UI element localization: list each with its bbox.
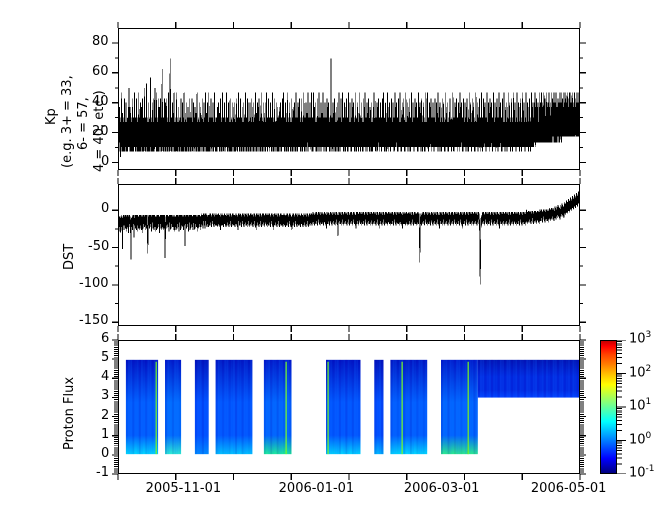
dst-ytick-label-1: -50 xyxy=(88,239,109,254)
proton-flux-ytick-label-7: 6 xyxy=(101,331,109,346)
xtick-label-3: 2006-05-01 xyxy=(531,481,607,496)
proton-flux-ytick-label-5: 4 xyxy=(101,369,109,384)
xtick-label-0: 2005-11-01 xyxy=(146,481,222,496)
colorbar-tick-label-0: 10-1 xyxy=(629,464,655,480)
proton-flux-ytick-label-1: 0 xyxy=(101,446,109,461)
dst-ytick-label-3: -150 xyxy=(79,313,109,328)
colorbar-tick-label-4: 103 xyxy=(629,330,651,346)
proton-flux-ytick-label-3: 2 xyxy=(101,408,109,423)
tick-label-layer: 0204060800-50-100-150-101234562005-11-01… xyxy=(0,0,665,523)
kp-ytick-label-2: 40 xyxy=(92,94,109,109)
xtick-label-1: 2006-01-01 xyxy=(279,481,355,496)
dst-ytick-label-2: -100 xyxy=(79,276,109,291)
proton-flux-ytick-label-6: 5 xyxy=(101,350,109,365)
kp-ytick-label-0: 0 xyxy=(101,154,109,169)
kp-ytick-label-1: 20 xyxy=(92,124,109,139)
kp-ytick-label-3: 60 xyxy=(92,64,109,79)
dst-ytick-label-0: 0 xyxy=(101,201,109,216)
proton-flux-ytick-label-4: 3 xyxy=(101,388,109,403)
colorbar-tick-label-3: 102 xyxy=(629,364,651,380)
colorbar-tick-label-2: 101 xyxy=(629,397,651,413)
xtick-label-2: 2006-03-01 xyxy=(404,481,480,496)
proton-flux-ytick-label-0: -1 xyxy=(96,465,109,480)
colorbar-tick-label-1: 100 xyxy=(629,431,651,447)
proton-flux-ytick-label-2: 1 xyxy=(101,427,109,442)
kp-ytick-label-4: 80 xyxy=(92,34,109,49)
